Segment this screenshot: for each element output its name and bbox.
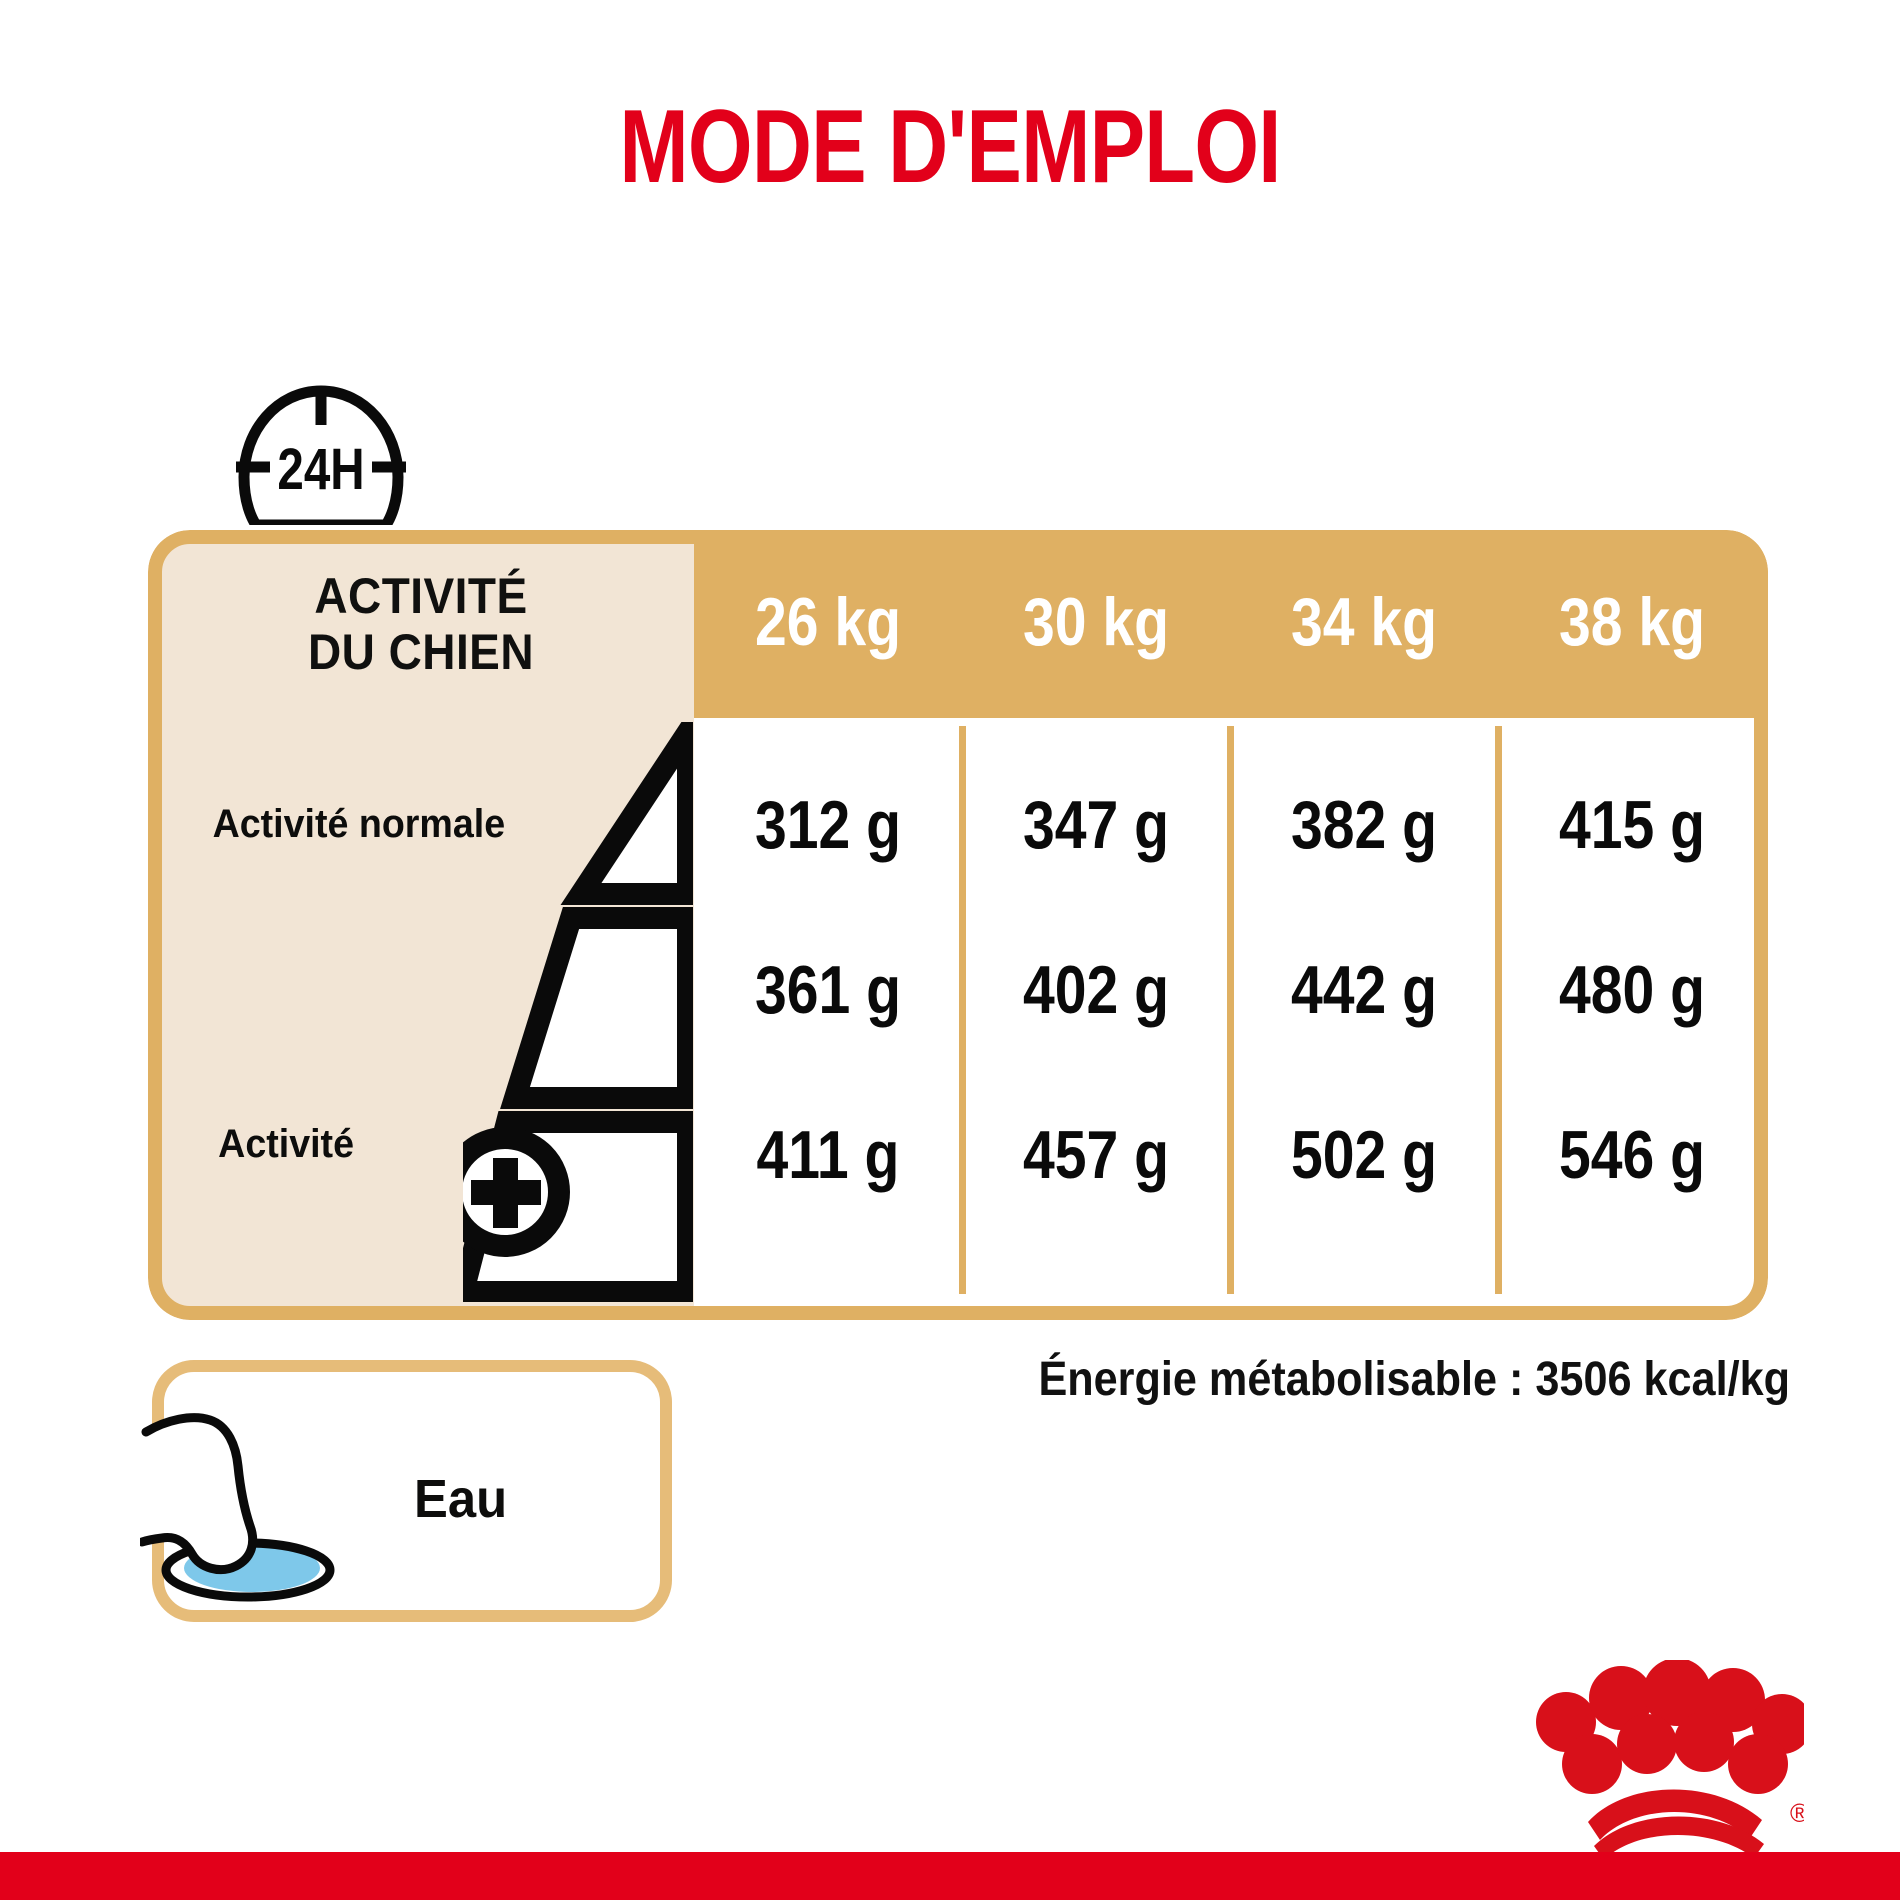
row-label-normal: Activité normale — [213, 800, 504, 848]
row-label-plus: Activité — [204, 1120, 354, 1168]
cell-r1-c2: 442 g — [1251, 935, 1476, 1045]
water-card: Eau — [152, 1360, 672, 1622]
activity-column-header-line2: DU CHIEN — [170, 624, 672, 680]
cell-r2-c2: 502 g — [1251, 1100, 1476, 1210]
column-header-3: 38 kg — [1519, 562, 1744, 682]
feeding-table: ACTIVITÉ DU CHIEN 26 kg 30 kg 34 kg 38 k… — [148, 530, 1768, 1320]
cell-r0-c0: 312 g — [715, 770, 940, 880]
activity-column-header: ACTIVITÉ DU CHIEN — [170, 568, 672, 680]
page-title: MODE D'EMPLOI — [190, 88, 1710, 207]
activity-column-header-line1: ACTIVITÉ — [170, 568, 672, 624]
column-header-0: 26 kg — [715, 562, 940, 682]
registered-mark: ® — [1790, 1798, 1804, 1828]
column-divider-3 — [1495, 726, 1502, 1294]
cell-r0-c2: 382 g — [1251, 770, 1476, 880]
clock-24h-badge: 24H — [222, 385, 420, 525]
cell-r2-c1: 457 g — [983, 1100, 1208, 1210]
cell-r0-c1: 347 g — [983, 770, 1208, 880]
clock-24h-label: 24H — [277, 438, 364, 503]
dog-drinking-water-icon — [140, 1390, 420, 1610]
cell-r0-c3: 415 g — [1519, 770, 1744, 880]
activity-pyramid-icon — [463, 722, 693, 1302]
column-header-2: 34 kg — [1251, 562, 1476, 682]
cell-r2-c0: 411 g — [715, 1100, 940, 1210]
cell-r1-c1: 402 g — [983, 935, 1208, 1045]
cell-r1-c3: 480 g — [1519, 935, 1744, 1045]
bottom-red-bar — [0, 1852, 1900, 1900]
cell-r1-c0: 361 g — [715, 935, 940, 1045]
column-divider-2 — [1227, 726, 1234, 1294]
cell-r2-c3: 546 g — [1519, 1100, 1744, 1210]
plus-badge-icon — [463, 1138, 559, 1246]
feeding-table-inner: ACTIVITÉ DU CHIEN 26 kg 30 kg 34 kg 38 k… — [148, 530, 1768, 1320]
clock-24h-icon: 24H — [222, 385, 420, 525]
column-header-1: 30 kg — [983, 562, 1208, 682]
water-label: Eau — [414, 1468, 602, 1530]
column-divider-1 — [959, 726, 966, 1294]
royal-canin-crown-logo: ® — [1514, 1660, 1804, 1860]
